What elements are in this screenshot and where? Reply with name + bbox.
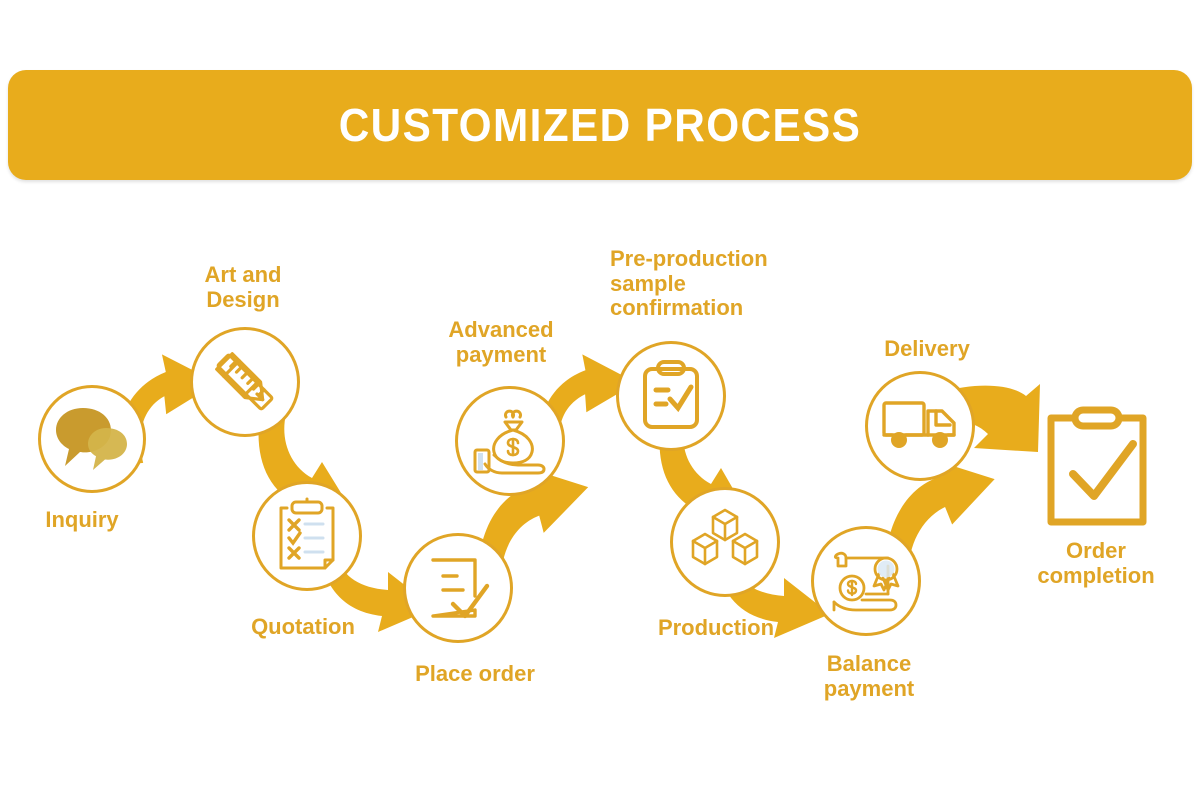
step-node-quotation[interactable] xyxy=(252,481,362,591)
hand-money-bag-icon xyxy=(472,408,548,474)
step-label-pre-production: Pre-production sample confirmation xyxy=(610,247,850,321)
ruler-pencil-icon xyxy=(208,345,282,419)
step-node-delivery[interactable] xyxy=(865,371,975,481)
document-check-icon xyxy=(425,552,491,624)
delivery-truck-icon xyxy=(880,397,960,455)
step-node-pre-production[interactable] xyxy=(616,341,726,451)
step-node-art-and-design[interactable] xyxy=(190,327,300,437)
process-diagram-canvas: CUSTOMIZED PROCESS xyxy=(0,0,1200,792)
boxes-icon xyxy=(685,507,765,577)
step-label-inquiry: Inquiry xyxy=(0,508,172,533)
step-label-place-order: Place order xyxy=(360,662,590,687)
step-label-quotation: Quotation xyxy=(203,615,403,640)
clipboard-check-icon xyxy=(637,359,705,433)
step-node-production[interactable] xyxy=(670,487,780,597)
step-label-order-completion: Order completion xyxy=(976,539,1200,588)
step-node-order-completion[interactable] xyxy=(1032,398,1162,538)
step-label-delivery: Delivery xyxy=(817,337,1037,362)
step-label-production: Production xyxy=(606,616,826,641)
clipboard-checklist-icon xyxy=(273,498,341,574)
speech-bubbles-icon xyxy=(53,404,131,474)
step-label-art-and-design: Art and Design xyxy=(148,263,338,312)
step-node-inquiry[interactable] xyxy=(38,385,146,493)
step-label-advanced-payment: Advanced payment xyxy=(391,318,611,367)
step-node-advanced-payment[interactable] xyxy=(455,386,565,496)
page-title: CUSTOMIZED PROCESS xyxy=(339,98,862,152)
step-node-place-order[interactable] xyxy=(403,533,513,643)
hand-coin-certificate-icon xyxy=(826,544,906,618)
step-label-balance-payment: Balance payment xyxy=(759,652,979,701)
step-node-balance-payment[interactable] xyxy=(811,526,921,636)
clipboard-big-check-icon xyxy=(1037,402,1157,534)
header-banner: CUSTOMIZED PROCESS xyxy=(8,70,1192,180)
